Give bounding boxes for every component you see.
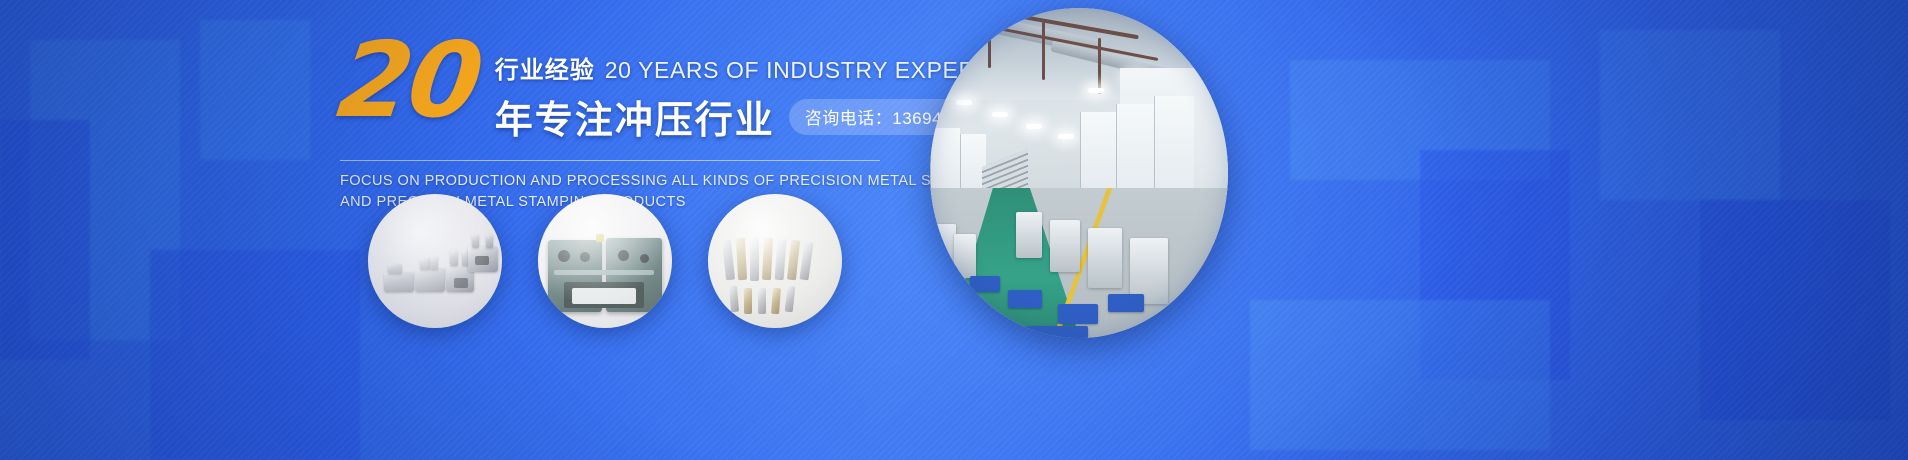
promo-banner: 20 行业经验 20 YEARS OF INDUSTRY EXPERIENCE …: [0, 0, 1908, 460]
vignette-overlay: [0, 0, 1908, 460]
